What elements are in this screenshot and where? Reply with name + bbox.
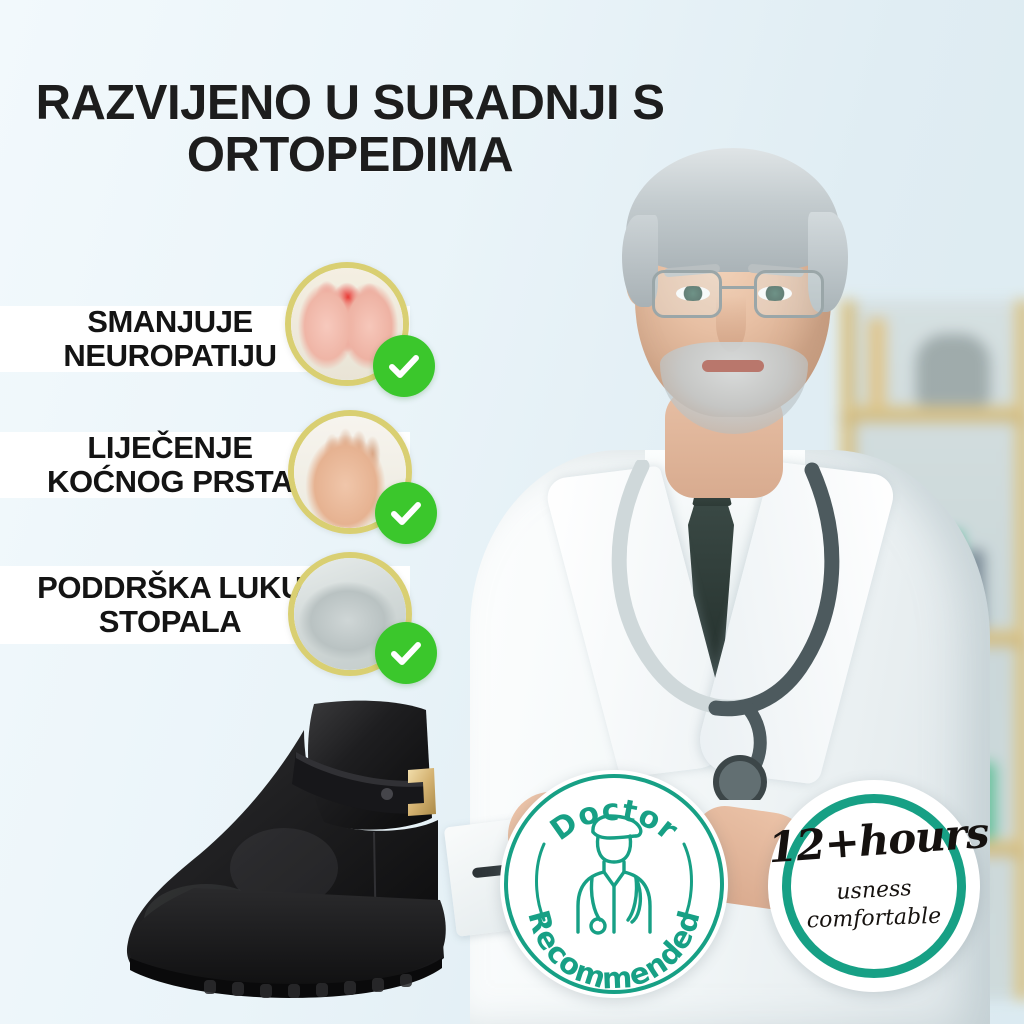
green-check-icon — [375, 482, 437, 544]
green-check-icon — [375, 622, 437, 684]
headline-line-1: RAZVIJENO U SURADNJI S — [36, 76, 665, 130]
eyeglasses-icon — [652, 270, 824, 322]
headline-line-2: ORTOPEDIMA — [0, 130, 700, 182]
feature-label-line-1: PODDRŠKA LUKU — [37, 571, 303, 605]
feature-label-line-2: NEUROPATIJU — [63, 339, 276, 373]
headline: RAZVIJENO U SURADNJI S ORTOPEDIMA — [0, 78, 700, 182]
ad-creative: RAZVIJENO U SURADNJI S ORTOPEDIMA SMANJU… — [0, 0, 1024, 1024]
feature-label-line-2: KOĆNOG PRSTA — [47, 465, 293, 499]
badge-doctor-recommended: Doctor Recommended — [500, 770, 728, 998]
stethoscope-icon — [550, 460, 910, 800]
feature-label-line-1: SMANJUJE — [87, 305, 253, 339]
mouth — [702, 360, 764, 372]
green-check-icon — [373, 335, 435, 397]
feature-label-line-1: LIJEČENJE — [87, 431, 252, 465]
badge-12-plus-hours: 12+hours usness comfortable — [768, 780, 980, 992]
product-image-black-ankle-boot — [108, 692, 476, 1010]
feature-label-line-2: STOPALA — [99, 605, 241, 639]
